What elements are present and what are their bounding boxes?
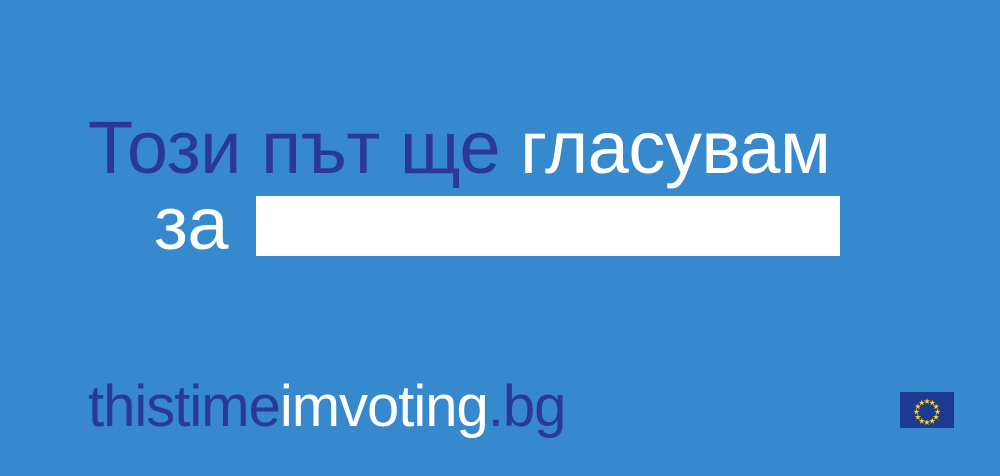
headline-line-2: за — [154, 184, 228, 264]
logo-part-thistime: thistime — [88, 374, 280, 439]
headline-line-1: Този път ще гласувам — [88, 108, 830, 188]
write-in-field[interactable] — [256, 196, 840, 256]
headline-preposition-za: за — [154, 184, 228, 264]
logo-part-imvoting: imvoting — [280, 374, 488, 439]
site-logo[interactable]: thistimeimvoting.bg — [88, 378, 565, 436]
headline-text-light: гласувам — [520, 106, 830, 189]
logo-part-tld: .bg — [488, 374, 566, 439]
poster-canvas: Този път ще гласувам за thistimeimvoting… — [0, 0, 1000, 476]
headline-text-dark: Този път ще — [88, 106, 500, 189]
eu-flag-icon — [900, 392, 954, 428]
